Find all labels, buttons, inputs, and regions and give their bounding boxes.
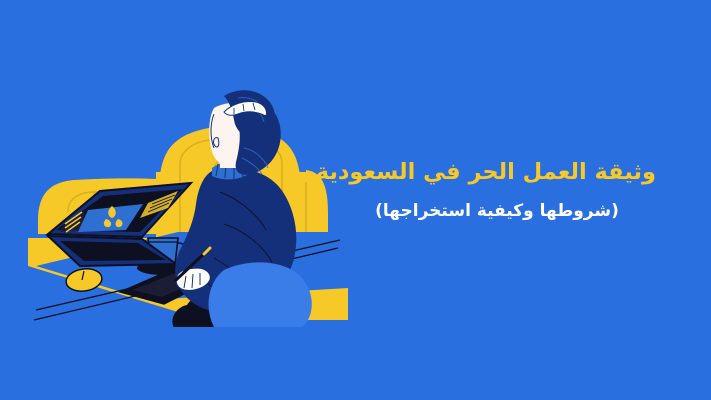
page-subtitle: (شروطها وكيفية استخراجها) — [338, 200, 656, 222]
page-title: وثيقة العمل الحر في السعودية — [338, 158, 656, 186]
woman-working-on-laptop-illustration — [28, 52, 348, 327]
banner: وثيقة العمل الحر في السعودية (شروطها وكي… — [0, 0, 711, 400]
text-block: وثيقة العمل الحر في السعودية (شروطها وكي… — [338, 158, 656, 222]
